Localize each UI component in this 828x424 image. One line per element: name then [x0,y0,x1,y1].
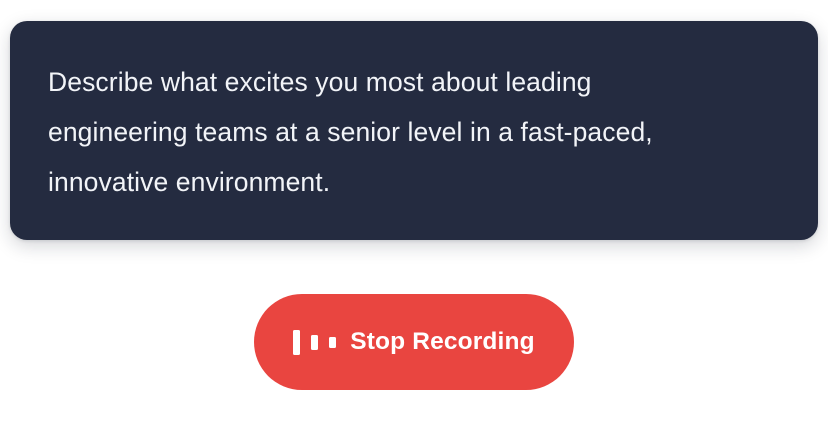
stop-recording-button[interactable]: Stop Recording [254,294,574,390]
audio-level-bar-2 [311,335,318,350]
audio-level-bar-3 [329,337,336,348]
question-prompt-text: Describe what excites you most about lea… [48,57,738,207]
question-card: Describe what excites you most about lea… [10,21,818,240]
recording-screen: Describe what excites you most about lea… [0,0,828,424]
controls-row: Stop Recording [0,294,828,404]
audio-level-icon [293,329,336,355]
stop-recording-label: Stop Recording [350,330,535,355]
audio-level-bar-1 [293,330,300,355]
